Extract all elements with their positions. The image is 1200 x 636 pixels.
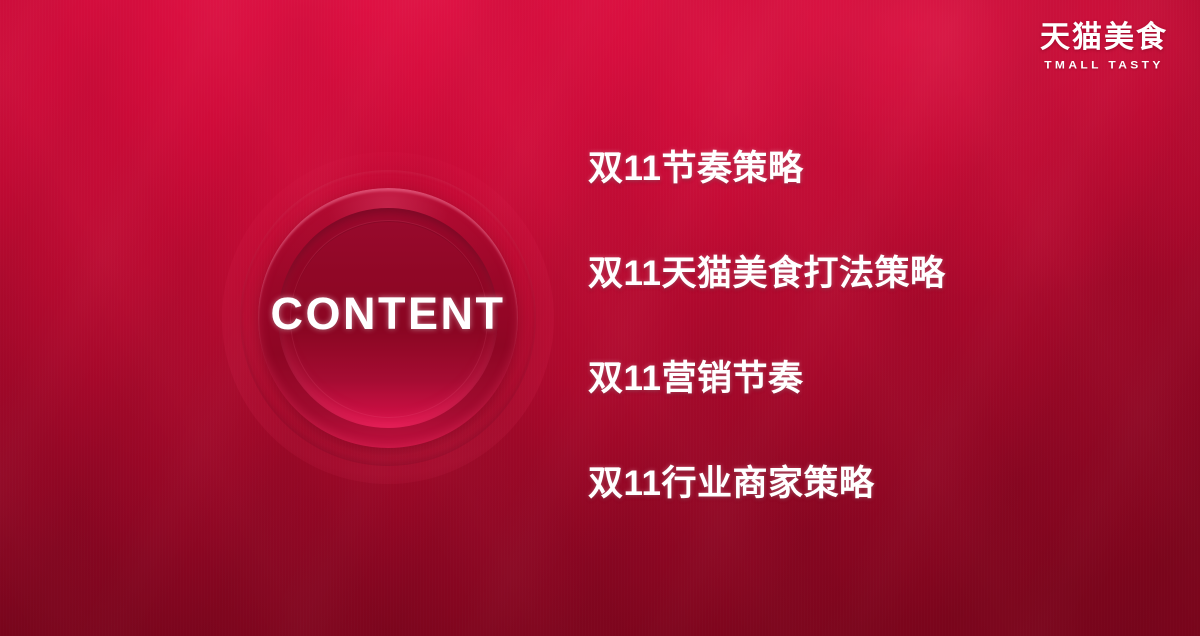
agenda-list: 双11节奏策略 双11天猫美食打法策略 双11营销节奏 双11行业商家策略 [588,148,1148,505]
content-label: CONTENT [222,291,554,336]
agenda-item-4[interactable]: 双11行业商家策略 [588,463,1148,505]
brand-logo: 天猫美食 TMALL TASTY [1040,22,1168,71]
brand-name-english: TMALL TASTY [1040,59,1168,70]
brand-name-chinese: 天猫美食 [1040,22,1168,54]
agenda-item-1[interactable]: 双11节奏策略 [588,148,1148,190]
agenda-item-2[interactable]: 双11天猫美食打法策略 [588,253,1148,295]
content-medallion: CONTENT [222,152,554,484]
content-slide: CONTENT 双11节奏策略 双11天猫美食打法策略 双11营销节奏 双11行… [0,0,1200,636]
agenda-item-3[interactable]: 双11营销节奏 [588,358,1148,400]
